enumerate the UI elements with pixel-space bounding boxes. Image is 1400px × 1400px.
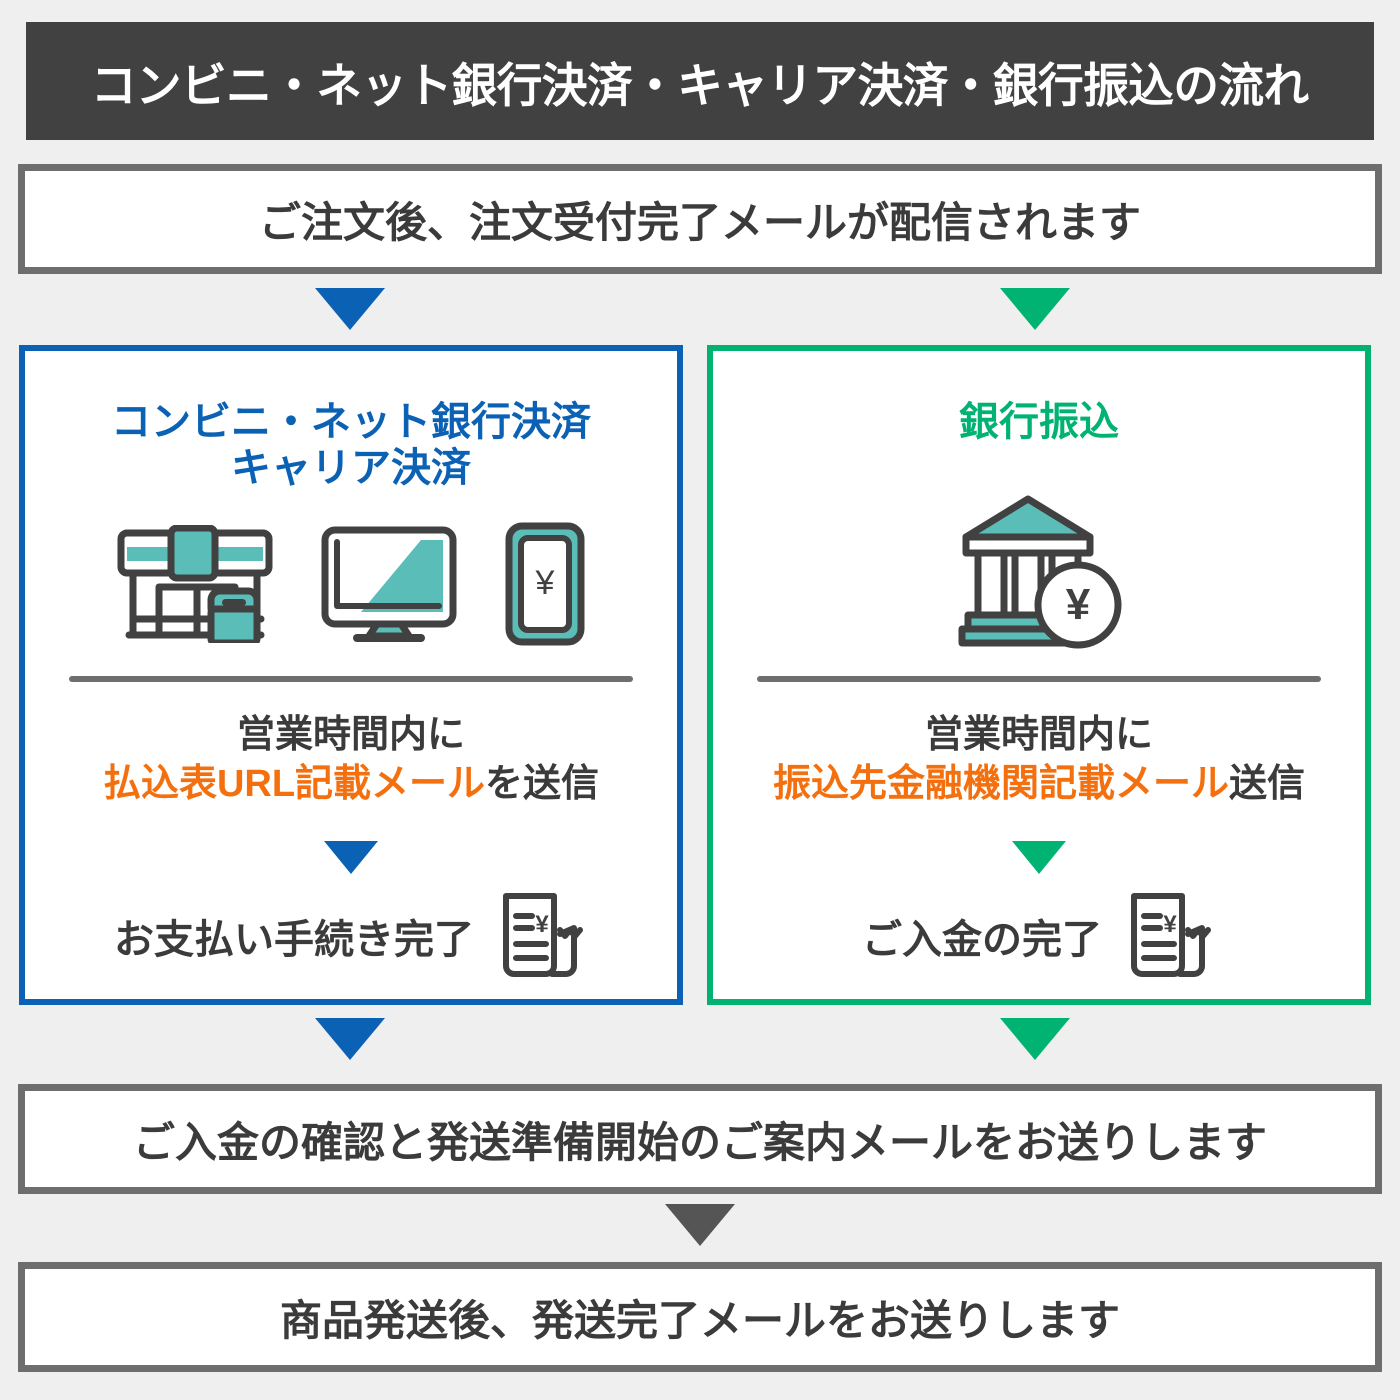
panel-bank-completion-row: ご入金の完了 ¥ xyxy=(713,891,1365,981)
panel-cvs-note: 営業時間内に 払込表URL記載メールを送信 xyxy=(25,711,677,808)
panel-convenience-store: コンビニ・ネット銀行決済 キャリア決済 xyxy=(19,345,683,1005)
step-shipped-box: 商品発送後、発送完了メールをお送りします xyxy=(18,1262,1382,1372)
diagram-title-bar: コンビニ・ネット銀行決済・キャリア決済・銀行振込の流れ xyxy=(26,22,1374,140)
payment-flow-diagram: コンビニ・ネット銀行決済・キャリア決済・銀行振込の流れ ご注文後、注文受付完了メ… xyxy=(0,0,1400,1400)
svg-text:¥: ¥ xyxy=(1066,580,1091,629)
receipt-yen-icon: ¥ xyxy=(1120,890,1216,982)
panel-cvs-note-line2: 払込表URL記載メールを送信 xyxy=(25,760,677,809)
arrow-down-to-shipped-icon xyxy=(665,1204,735,1246)
panel-bank-title: 銀行振込 xyxy=(713,399,1365,445)
convenience-store-icon xyxy=(115,525,275,643)
diagram-title: コンビニ・ネット銀行決済・キャリア決済・銀行振込の流れ xyxy=(91,47,1309,116)
svg-text:¥: ¥ xyxy=(535,911,549,938)
arrow-down-from-bank-icon xyxy=(1000,1018,1070,1060)
desktop-monitor-icon xyxy=(319,524,459,644)
panel-cvs-title-line2: キャリア決済 xyxy=(25,445,677,491)
arrow-down-to-cvs-icon xyxy=(315,288,385,330)
panel-bank-title-line1: 銀行振込 xyxy=(959,400,1119,444)
vending-machine-sub-icon xyxy=(211,591,257,643)
panel-cvs-title-line1: コンビニ・ネット銀行決済 xyxy=(111,400,591,444)
panel-bank-note: 営業時間内に 振込先金融機関記載メール送信 xyxy=(713,711,1365,808)
panel-cvs-title: コンビニ・ネット銀行決済 キャリア決済 xyxy=(25,399,677,492)
step-order-received-box: ご注文後、注文受付完了メールが配信されます xyxy=(18,164,1382,274)
panel-bank-note-suffix: 送信 xyxy=(1229,763,1305,805)
step-order-received-text: ご注文後、注文受付完了メールが配信されます xyxy=(259,189,1141,250)
panel-bank-note-line1: 営業時間内に xyxy=(713,711,1365,760)
panel-bank-transfer: 銀行振込 xyxy=(707,345,1371,1005)
svg-text:¥: ¥ xyxy=(1163,911,1177,938)
panel-cvs-note-suffix: を送信 xyxy=(485,763,599,805)
bank-yen-icon: ¥ xyxy=(954,491,1124,651)
panel-cvs-icon-row: ¥ xyxy=(25,516,677,651)
panel-bank-completion-text: ご入金の完了 xyxy=(862,907,1102,965)
receipt-yen-icon: ¥ xyxy=(492,890,588,982)
panel-cvs-note-line1: 営業時間内に xyxy=(25,711,677,760)
arrow-down-cvs-to-complete-icon xyxy=(324,841,378,874)
panel-bank-divider xyxy=(757,676,1321,682)
arrow-down-to-bank-icon xyxy=(1000,288,1070,330)
panel-bank-icon-row: ¥ xyxy=(713,491,1365,651)
arrow-down-from-cvs-icon xyxy=(315,1018,385,1060)
arrow-down-bank-to-complete-icon xyxy=(1012,841,1066,874)
step-payment-confirmed-box: ご入金の確認と発送準備開始のご案内メールをお送りします xyxy=(18,1084,1382,1194)
panel-cvs-completion-text: お支払い手続き完了 xyxy=(114,907,474,965)
panel-cvs-divider xyxy=(69,676,633,682)
panel-bank-note-highlight: 振込先金融機関記載メール xyxy=(773,763,1229,805)
panel-cvs-completion-row: お支払い手続き完了 ¥ xyxy=(25,891,677,981)
step-shipped-text: 商品発送後、発送完了メールをお送りします xyxy=(280,1287,1120,1348)
svg-text:¥: ¥ xyxy=(535,564,555,602)
panel-cvs-note-highlight: 払込表URL記載メール xyxy=(103,763,485,805)
step-payment-confirmed-text: ご入金の確認と発送準備開始のご案内メールをお送りします xyxy=(133,1109,1267,1170)
smartphone-yen-icon: ¥ xyxy=(503,521,587,647)
panel-bank-note-line2: 振込先金融機関記載メール送信 xyxy=(713,760,1365,809)
